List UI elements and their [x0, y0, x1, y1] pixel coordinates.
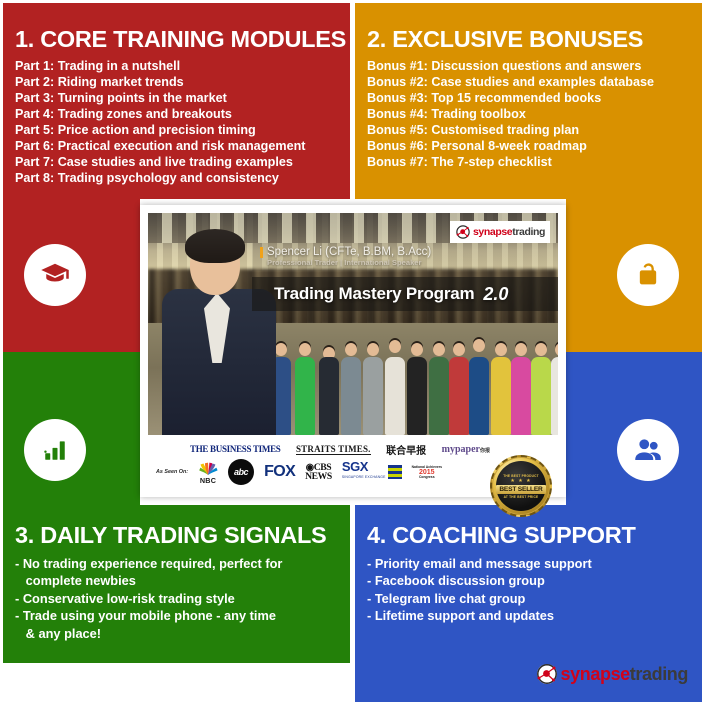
sgx-label: SGX — [342, 461, 386, 472]
card-logo-trading: trading — [512, 226, 545, 238]
speaker-role: Professional Trader | International Spea… — [267, 258, 558, 268]
list-item: Bonus #2: Case studies and examples data… — [367, 74, 702, 90]
core-training-list: Part 1: Trading in a nutshell Part 2: Ri… — [15, 58, 350, 187]
coaching-support-list: - Priority email and message support - F… — [367, 555, 702, 625]
daily-signals-heading: 3. DAILY TRADING SIGNALS — [15, 523, 350, 548]
sgx-logo: SGX SINGAPORE EXCHANGE — [342, 461, 402, 483]
press-publications-row: THE BUSINESS TIMES STRAITS TIMES. 联合早报 m… — [190, 441, 490, 457]
list-item: Bonus #5: Customised trading plan — [367, 122, 702, 138]
list-item: Part 3: Turning points in the market — [15, 90, 350, 106]
best-seller-stars: ★ ★ ★ — [510, 478, 531, 484]
quadrant-exclusive-bonuses: 2. EXCLUSIVE BONUSES Bonus #1: Discussio… — [355, 3, 702, 199]
quadrant-coaching-support: 4. COACHING SUPPORT - Priority email and… — [355, 505, 702, 702]
list-item: complete newbies — [15, 572, 350, 590]
seminar-photo: Spencer Li (CFTe, B.BM, B.Acc) Professio… — [148, 213, 558, 435]
abc-label: abc — [234, 467, 248, 477]
list-item: Part 7: Case studies and live trading ex… — [15, 154, 350, 170]
users-icon — [633, 435, 663, 465]
graduation-cap-icon — [40, 260, 70, 290]
best-seller-label: BEST SELLER — [496, 485, 545, 494]
list-item: Bonus #6: Personal 8-week roadmap — [367, 138, 702, 154]
list-item: Part 4: Trading zones and breakouts — [15, 106, 350, 122]
business-times-logo: THE BUSINESS TIMES — [190, 444, 280, 454]
program-card: Spencer Li (CFTe, B.BM, B.Acc) Professio… — [140, 205, 566, 497]
footer-logo-trading: trading — [630, 664, 688, 684]
list-item: Bonus #7: The 7-step checklist — [367, 154, 702, 170]
card-synapse-trading-logo: synapsetrading — [450, 221, 550, 243]
badge-core-training — [24, 244, 86, 306]
as-seen-on-label: As Seen On: — [156, 469, 188, 475]
nbc-peacock-icon — [198, 460, 218, 476]
list-item: Part 1: Trading in a nutshell — [15, 58, 350, 74]
abc-logo: abc — [228, 459, 254, 485]
speaker-name: Spencer Li (CFTe, B.BM, B.Acc) — [267, 246, 558, 258]
program-title: Trading Mastery Program — [274, 284, 474, 304]
best-seller-bottom-text: AT THE BEST PRICE — [504, 495, 539, 499]
quadrant-daily-signals: 3. DAILY TRADING SIGNALS - No trading ex… — [3, 505, 350, 663]
press-logos-strip: THE BUSINESS TIMES STRAITS TIMES. 联合早报 m… — [148, 439, 558, 489]
sgx-bars-icon — [388, 465, 402, 479]
nbc-logo: NBC — [198, 460, 218, 485]
accent-tick — [260, 247, 263, 258]
zaobao-logo: 联合早报 — [386, 442, 426, 457]
press-broadcast-row: As Seen On: NBC abc FOX — [156, 457, 486, 487]
program-version: 2.0 — [483, 284, 508, 305]
news-label: NEWS — [305, 472, 332, 481]
quadrant-core-training: 1. CORE TRAINING MODULES Part 1: Trading… — [3, 3, 350, 199]
list-item: - Facebook discussion group — [367, 572, 702, 590]
exclusive-bonuses-heading: 2. EXCLUSIVE BONUSES — [367, 27, 702, 52]
list-item: - Telegram live chat group — [367, 590, 702, 608]
list-item: - Trade using your mobile phone - any ti… — [15, 607, 350, 625]
footer-logo-text: synapsetrading — [561, 664, 688, 685]
award-bottom-label: Congress — [419, 475, 435, 480]
card-logo-text: synapsetrading — [473, 226, 545, 238]
card-logo-synapse: synapse — [473, 226, 512, 238]
best-seller-badge-inner: THE BEST PRODUCT ★ ★ ★ BEST SELLER AT TH… — [496, 461, 546, 511]
list-item: Part 2: Riding market trends — [15, 74, 350, 90]
list-item: Bonus #1: Discussion questions and answe… — [367, 58, 702, 74]
badge-daily-signals — [24, 419, 86, 481]
achievers-award-logo: National Achievers 2015 Congress — [412, 465, 442, 480]
cbs-news-logo: ◉CBS NEWS — [305, 463, 332, 481]
list-item: - Priority email and message support — [367, 555, 702, 573]
nbc-label: NBC — [200, 476, 216, 485]
synapse-node-icon — [535, 662, 559, 686]
badge-coaching-support — [617, 419, 679, 481]
list-item: - No trading experience required, perfec… — [15, 555, 350, 573]
fox-logo: FOX — [264, 463, 295, 481]
list-item: Bonus #3: Top 15 recommended books — [367, 90, 702, 106]
list-item: Part 5: Price action and precision timin… — [15, 122, 350, 138]
list-item: - Lifetime support and updates — [367, 607, 702, 625]
sgx-sublabel: SINGAPORE EXCHANGE — [342, 472, 386, 483]
list-item: Part 6: Practical execution and risk man… — [15, 138, 350, 154]
bar-chart-icon — [42, 437, 68, 463]
infographic-poster: 1. CORE TRAINING MODULES Part 1: Trading… — [0, 0, 705, 705]
footer-synapse-trading-logo: synapsetrading — [535, 662, 688, 686]
daily-signals-list: - No trading experience required, perfec… — [15, 555, 350, 643]
list-item: Part 8: Trading psychology and consisten… — [15, 170, 350, 186]
list-item: Bonus #4: Trading toolbox — [367, 106, 702, 122]
core-training-heading: 1. CORE TRAINING MODULES — [15, 27, 350, 52]
mypaper-logo: mypaper你报 — [442, 444, 490, 455]
program-title-bar: Trading Mastery Program 2.0 — [252, 277, 558, 311]
synapse-node-icon — [455, 224, 471, 240]
coaching-support-heading: 4. COACHING SUPPORT — [367, 523, 702, 548]
best-seller-badge: THE BEST PRODUCT ★ ★ ★ BEST SELLER AT TH… — [490, 455, 552, 517]
exclusive-bonuses-list: Bonus #1: Discussion questions and answe… — [367, 58, 702, 171]
list-item: & any place! — [15, 625, 350, 643]
unlock-padlock-icon — [634, 261, 662, 289]
list-item: - Conservative low-risk trading style — [15, 590, 350, 608]
straits-times-logo: STRAITS TIMES. — [296, 444, 371, 455]
badge-exclusive-bonuses — [617, 244, 679, 306]
footer-logo-synapse: synapse — [561, 664, 630, 684]
speaker-name-strip: Spencer Li (CFTe, B.BM, B.Acc) Professio… — [252, 243, 558, 271]
